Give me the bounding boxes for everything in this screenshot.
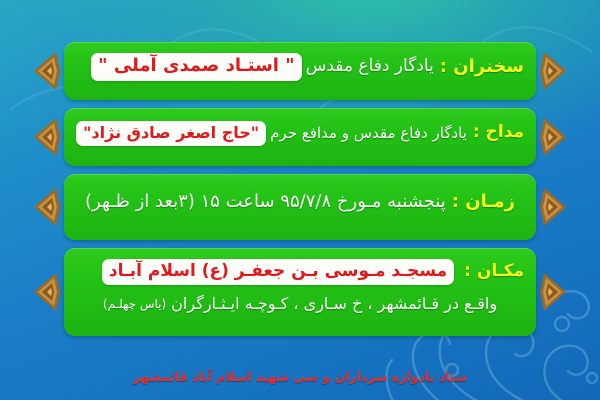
diamond-ornament-icon (34, 269, 60, 315)
diamond-ornament-icon (34, 48, 60, 94)
speaker-label: سخنران : (440, 56, 524, 79)
speaker-description: یادگار دفاع مقدس (306, 56, 434, 77)
place-address: واقـع در قـائمشهر ، خ سـاری ، کـوچـه ایـ… (171, 294, 497, 314)
eulogist-card: مداح : یادگار دفاع مقدس و مدافع حرم "حاج… (64, 108, 536, 166)
place-address-note: (یاس چهلـم) (103, 297, 166, 312)
eulogist-label: مداح : (473, 122, 524, 143)
place-name: مسجـد مـوسی بـن جعفـر (ع) اسلام آبـاد (102, 259, 454, 285)
speaker-card: سخنران : یادگار دفاع مقدس " استـاد صمدی … (64, 42, 536, 100)
diamond-ornament-icon (540, 114, 566, 160)
row-place: مکـان : مسجـد مـوسی بـن جعفـر (ع) اسلام … (64, 248, 536, 336)
row-eulogist: مداح : یادگار دفاع مقدس و مدافع حرم "حاج… (64, 108, 536, 166)
diamond-ornament-icon (34, 184, 60, 230)
diamond-ornament-icon (34, 114, 60, 160)
eulogist-name: "حاج اصغر صادق نژاد" (76, 121, 266, 146)
time-card: زمـان : پنجشنبه مـورخ ۹۵/۷/۸ ساعت ۱۵ (۳ب… (64, 174, 536, 240)
place-label: مکـان : (464, 261, 524, 282)
diamond-ornament-icon (540, 184, 566, 230)
organizer-footer: ستاد یادواره سرداران و سی شهید اسلام آبا… (0, 369, 600, 384)
eulogist-description: یادگار دفاع مقدس و مدافع حرم (270, 124, 467, 143)
row-time: زمـان : پنجشنبه مـورخ ۹۵/۷/۸ ساعت ۱۵ (۳ب… (64, 174, 536, 240)
event-poster: سخنران : یادگار دفاع مقدس " استـاد صمدی … (0, 0, 600, 400)
time-value: پنجشنبه مـورخ ۹۵/۷/۸ ساعت ۱۵ (۳بعد از ظـ… (85, 191, 446, 214)
diamond-ornament-icon (540, 269, 566, 315)
diamond-ornament-icon (540, 48, 566, 94)
detail-rows: سخنران : یادگار دفاع مقدس " استـاد صمدی … (0, 42, 600, 344)
place-card: مکـان : مسجـد مـوسی بـن جعفـر (ع) اسلام … (64, 248, 536, 336)
time-label: زمـان : (452, 191, 515, 214)
row-speaker: سخنران : یادگار دفاع مقدس " استـاد صمدی … (64, 42, 536, 100)
speaker-name: " استـاد صمدی آملی " (91, 53, 301, 81)
